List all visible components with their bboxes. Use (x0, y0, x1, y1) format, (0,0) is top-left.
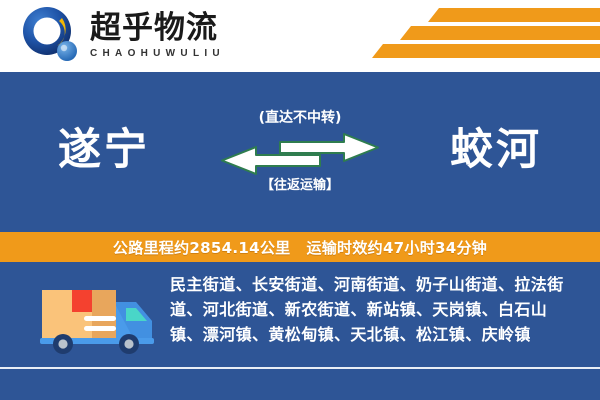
route-section: 遂宁 (直达不中转) 【往返运输】 蛟河 (0, 72, 600, 228)
distance-text: 公路里程约2854.14公里 (113, 237, 291, 258)
origin-city: 遂宁 (58, 124, 150, 176)
stripe-2 (400, 26, 600, 40)
coverage-area-list: 民主街道、长安街道、河南街道、奶子山街道、拉法街 道、河北街道、新农街道、新站镇… (170, 272, 582, 347)
brand-name-en: CHAOHUWULIU (90, 47, 225, 60)
delivery-truck-icon (30, 276, 162, 356)
header-bar: 超乎物流 CHAOHUWULIU (0, 0, 600, 72)
brand-name-cn: 超乎物流 (90, 11, 225, 45)
roundtrip-note: 【往返运输】 (200, 177, 400, 195)
coverage-line: 道、河北街道、新农街道、新站镇、天岗镇、白石山 (170, 297, 582, 322)
circle-crescent-logo-icon (22, 6, 80, 64)
route-middle: (直达不中转) 【往返运输】 (200, 108, 400, 195)
destination-city: 蛟河 (450, 124, 542, 176)
direct-note: (直达不中转) (200, 108, 400, 128)
coverage-line: 民主街道、长安街道、河南街道、奶子山街道、拉法街 (170, 272, 582, 297)
coverage-line: 镇、漂河镇、黄松甸镇、天北镇、松江镇、庆岭镇 (170, 322, 582, 347)
duration-text: 运输时效约47小时34分钟 (306, 237, 487, 258)
stripe-3 (372, 44, 600, 58)
brand-logo[interactable]: 超乎物流 CHAOHUWULIU (22, 6, 225, 64)
stripe-1 (428, 8, 600, 22)
info-bar: 公路里程约2854.14公里 运输时效约47小时34分钟 (0, 232, 600, 262)
orange-speed-stripes-icon (340, 6, 600, 66)
coverage-section: 民主街道、长安街道、河南街道、奶子山街道、拉法街 道、河北街道、新农街道、新站镇… (0, 262, 600, 400)
divider-line (0, 367, 600, 369)
logistics-route-banner: 超乎物流 CHAOHUWULIU 遂宁 (直达不中转) 【往返运输】 (0, 0, 600, 400)
brand-text: 超乎物流 CHAOHUWULIU (90, 11, 225, 60)
bidirectional-arrow-icon (220, 133, 380, 175)
